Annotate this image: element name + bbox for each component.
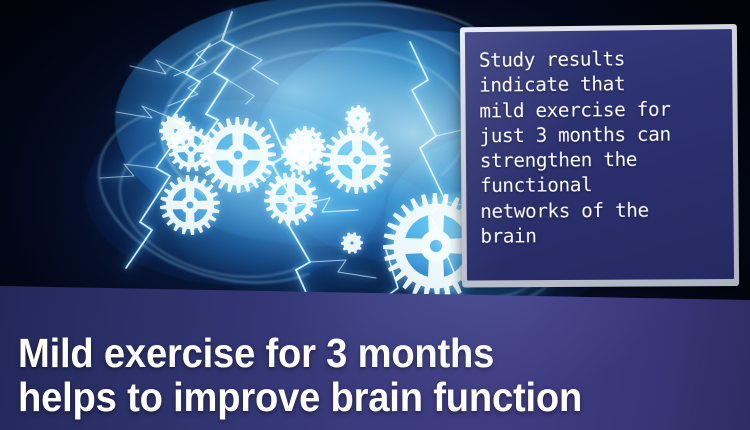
- callout-text: Study results indicate that mild exercis…: [465, 29, 734, 249]
- gear-medium-lower-mid: [258, 166, 324, 232]
- gear-small-far-right: [339, 99, 377, 137]
- study-results-callout: Study results indicate that mild exercis…: [460, 24, 739, 287]
- headline-banner: Mild exercise for 3 months helps to impr…: [0, 278, 750, 430]
- infographic-canvas: Study results indicate that mild exercis…: [0, 0, 750, 430]
- callout-body: Study results indicate that mild exercis…: [465, 29, 734, 280]
- gear-medium-lower-left: [154, 169, 226, 241]
- headline-text: Mild exercise for 3 months helps to impr…: [18, 332, 582, 420]
- gear-small-bottom: [335, 226, 369, 260]
